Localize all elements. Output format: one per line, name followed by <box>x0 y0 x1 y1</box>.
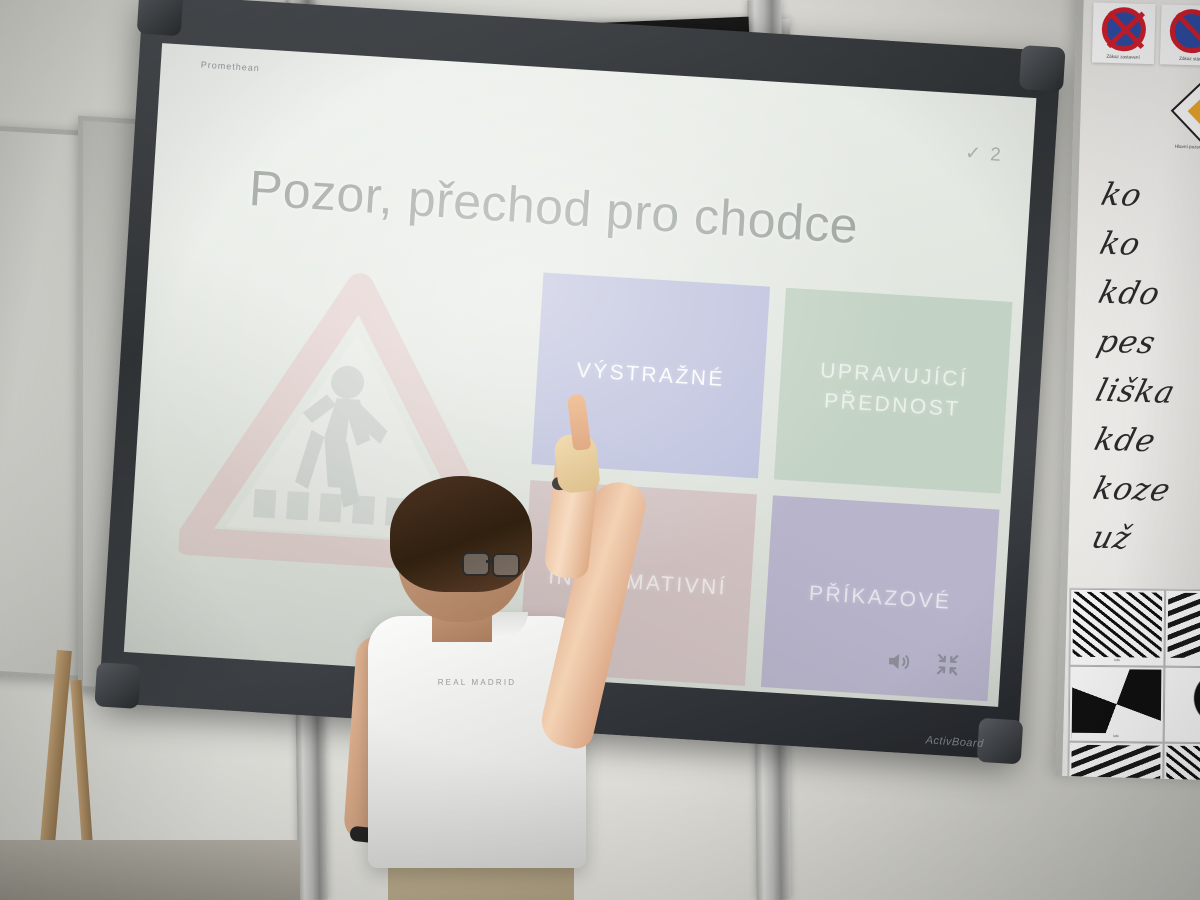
handwriting-line: liška <box>1092 373 1200 413</box>
no-parking-icon <box>1169 9 1200 54</box>
no-stopping-sign: Zákaz zastavení <box>1092 2 1156 63</box>
sign-caption: Hlavní pozemní komunikace <box>1172 144 1200 151</box>
handwriting-line: koze <box>1089 471 1200 511</box>
priority-road-sign: Hlavní pozemní komunikace <box>1172 87 1200 151</box>
volume-icon[interactable] <box>884 648 912 676</box>
comic-caption: kde <box>1072 733 1161 741</box>
tile-label: PŘÍKAZOVÉ <box>808 579 952 618</box>
promethean-logo: Promethean <box>201 60 261 74</box>
tile-prikazove[interactable]: PŘÍKAZOVÉ <box>761 495 1000 701</box>
no-parking-sign: Zákaz stání <box>1160 4 1200 65</box>
exit-fullscreen-icon[interactable] <box>934 651 962 679</box>
comic-cell: kdo <box>1069 589 1165 667</box>
slide-player-controls[interactable] <box>884 648 961 679</box>
tile-upravujici-prednost[interactable]: UPRAVUJÍCÍPŘEDNOST <box>774 288 1013 494</box>
handwriting-line: ko <box>1096 226 1200 266</box>
slide-title: Pozor, přechod pro chodce <box>247 159 860 255</box>
tile-label: UPRAVUJÍCÍPŘEDNOST <box>817 356 969 426</box>
no-stopping-icon <box>1101 7 1146 52</box>
comic-cell: jak <box>1164 666 1200 744</box>
student-pointing: REAL MADRID <box>340 430 680 900</box>
lens-left <box>462 552 490 576</box>
handwriting-line: ko <box>1098 177 1200 217</box>
comic-caption: jak <box>1167 734 1200 742</box>
poster-board-right: Zákaz zastavení Zákaz stání Zákaz Hlavní… <box>1055 0 1200 780</box>
sign-caption: Zákaz zastavení <box>1094 53 1152 60</box>
glasses <box>462 552 518 574</box>
handwriting-line: kdo <box>1095 275 1200 315</box>
lens-right <box>492 553 520 577</box>
illustration-grid-poster: kdo co kde jak proč kdy <box>1067 588 1200 780</box>
floor <box>0 840 300 900</box>
priority-road-icon <box>1171 78 1200 146</box>
handwriting-line: kde <box>1091 422 1200 462</box>
comic-cell: kdy <box>1163 743 1200 780</box>
comic-caption: kdo <box>1072 656 1161 664</box>
traffic-sign-cards: Zákaz zastavení Zákaz stání Zákaz <box>1092 2 1200 67</box>
comic-cell: proč <box>1068 742 1164 780</box>
handwriting-poster: ko ko kdo pes liška kde koze už <box>1092 177 1200 573</box>
comic-caption: co <box>1167 657 1200 665</box>
sign-caption: Zákaz stání <box>1162 55 1200 62</box>
board-corner-tl <box>137 0 184 36</box>
classroom-photo-scene: ✓ 2 Pozor, přechod pro chodce <box>0 0 1200 900</box>
slide-check-marker: ✓ 2 <box>964 142 1003 167</box>
comic-cell: co <box>1164 590 1200 668</box>
slash-a <box>1176 13 1200 51</box>
handwriting-line: už <box>1088 520 1200 560</box>
glasses-bridge <box>486 560 494 563</box>
tile-label: VÝSTRAŽNÉ <box>576 356 726 396</box>
board-corner-tr <box>1019 45 1066 92</box>
handwriting-line: pes <box>1093 324 1200 364</box>
comic-cell: kde <box>1069 665 1165 743</box>
